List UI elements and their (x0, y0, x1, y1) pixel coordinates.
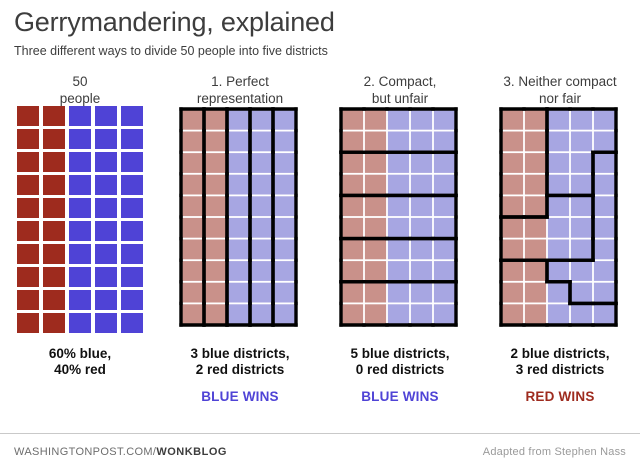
voter-cell (594, 132, 615, 152)
voter-cell (342, 175, 363, 195)
person-cell (121, 198, 143, 218)
voter-cell (228, 304, 249, 324)
voter-cell (434, 304, 455, 324)
voter-cell (548, 153, 569, 173)
voter-cell (365, 218, 386, 238)
voter-cell (228, 261, 249, 281)
voter-cell (411, 132, 432, 152)
person-cell (121, 106, 143, 126)
voter-cell (274, 304, 295, 324)
voter-cell (342, 132, 363, 152)
voter-cell (411, 218, 432, 238)
voter-cell (434, 110, 455, 130)
voter-cell (342, 218, 363, 238)
voter-cell (548, 261, 569, 281)
voter-cell (365, 175, 386, 195)
panel-caption: 2 blue districts, 3 red districts (510, 346, 609, 378)
voter-cell (342, 196, 363, 216)
voter-cell (228, 196, 249, 216)
voter-cell (411, 153, 432, 173)
footer-source[interactable]: WASHINGTONPOST.COM/WONKBLOG (14, 446, 227, 458)
person-cell (95, 198, 117, 218)
voter-cell (205, 196, 226, 216)
voter-cell (274, 153, 295, 173)
voter-cell (388, 240, 409, 260)
voter-cell (205, 261, 226, 281)
voter-cell (594, 110, 615, 130)
voter-cell (388, 283, 409, 303)
voter-cell (502, 283, 523, 303)
person-cell (95, 290, 117, 310)
voter-cell (182, 175, 203, 195)
voter-cell (525, 132, 546, 152)
voter-cell (434, 261, 455, 281)
person-cell (43, 152, 65, 172)
voter-cell (228, 110, 249, 130)
person-cell (69, 175, 91, 195)
voter-cell (525, 153, 546, 173)
voter-cell (388, 304, 409, 324)
voter-cell (228, 153, 249, 173)
voter-cell (525, 218, 546, 238)
voter-cell (228, 240, 249, 260)
voter-cell (205, 218, 226, 238)
person-cell (95, 129, 117, 149)
voter-cell (228, 218, 249, 238)
voter-cell (502, 110, 523, 130)
voter-cell (388, 218, 409, 238)
person-cell (17, 290, 39, 310)
voter-cell (342, 261, 363, 281)
person-cell (17, 221, 39, 241)
person-cell (69, 198, 91, 218)
person-cell (69, 244, 91, 264)
voter-cell (365, 283, 386, 303)
person-cell (17, 313, 39, 333)
person-cell (95, 313, 117, 333)
voter-cell (365, 304, 386, 324)
voter-cell (274, 175, 295, 195)
person-cell (121, 221, 143, 241)
panel-caption: 5 blue districts, 0 red districts (350, 346, 449, 378)
voter-cell (548, 132, 569, 152)
voter-cell (205, 283, 226, 303)
voter-cell (594, 304, 615, 324)
voter-cell (205, 304, 226, 324)
person-cell (121, 290, 143, 310)
panels-row: 50 people 60% blue, 40% red 1. Perfect r… (0, 66, 640, 420)
voter-cell (525, 304, 546, 324)
person-cell (43, 267, 65, 287)
person-cell (43, 313, 65, 333)
voter-cell (205, 240, 226, 260)
person-cell (17, 175, 39, 195)
voter-cell (182, 110, 203, 130)
voter-cell (434, 196, 455, 216)
voter-cell (525, 261, 546, 281)
voter-cell (388, 261, 409, 281)
voter-cell (525, 175, 546, 195)
voter-cell (342, 304, 363, 324)
person-cell (43, 244, 65, 264)
voter-cell (434, 175, 455, 195)
voter-cell (571, 283, 592, 303)
voter-cell (182, 132, 203, 152)
voter-cell (228, 175, 249, 195)
person-cell (43, 290, 65, 310)
voter-cell (548, 110, 569, 130)
voter-cell (571, 196, 592, 216)
voter-cell (411, 240, 432, 260)
person-cell (69, 129, 91, 149)
voter-cell (251, 240, 272, 260)
voter-cell (594, 218, 615, 238)
voter-cell (251, 261, 272, 281)
voter-cell (365, 132, 386, 152)
person-cell (121, 129, 143, 149)
voter-cell (411, 304, 432, 324)
voter-cell (182, 153, 203, 173)
person-cell (69, 106, 91, 126)
voter-cell (594, 153, 615, 173)
voter-cell (182, 196, 203, 216)
voter-cell (525, 110, 546, 130)
person-cell (17, 106, 39, 126)
panel-compact-but-unfair: 2. Compact, but unfair 5 blue districts,… (320, 66, 480, 420)
person-cell (121, 267, 143, 287)
person-cell (121, 175, 143, 195)
voter-cell (228, 132, 249, 152)
person-cell (43, 106, 65, 126)
panel-population: 50 people 60% blue, 40% red (0, 66, 160, 420)
person-cell (95, 106, 117, 126)
person-cell (43, 175, 65, 195)
voter-cell (388, 132, 409, 152)
voter-cell (571, 175, 592, 195)
voter-cell (502, 261, 523, 281)
voter-cell (342, 283, 363, 303)
voter-cell (411, 283, 432, 303)
voter-cell (205, 110, 226, 130)
voter-cell (525, 196, 546, 216)
voter-cell (251, 218, 272, 238)
voter-cell (594, 240, 615, 260)
panel-heading: 1. Perfect representation (197, 66, 283, 106)
voter-cell (434, 218, 455, 238)
person-cell (121, 313, 143, 333)
voter-cell (365, 196, 386, 216)
panel-caption: 60% blue, 40% red (49, 346, 111, 378)
voter-cell (411, 196, 432, 216)
voter-cell (548, 218, 569, 238)
person-cell (69, 152, 91, 172)
voter-cell (182, 283, 203, 303)
voter-cell (594, 175, 615, 195)
voter-cell (182, 261, 203, 281)
person-cell (121, 244, 143, 264)
voter-cell (251, 196, 272, 216)
population-svg (17, 106, 143, 334)
voter-cell (205, 153, 226, 173)
panel-result: BLUE WINS (201, 389, 279, 404)
voter-cell (365, 240, 386, 260)
person-cell (17, 129, 39, 149)
panel-caption: 3 blue districts, 2 red districts (190, 346, 289, 378)
voter-cell (274, 218, 295, 238)
voter-cell (594, 261, 615, 281)
voter-cell (251, 110, 272, 130)
voter-cell (571, 110, 592, 130)
voter-cell (411, 110, 432, 130)
voter-cell (525, 283, 546, 303)
person-cell (17, 198, 39, 218)
voter-cell (502, 218, 523, 238)
panel-heading: 2. Compact, but unfair (364, 66, 437, 106)
person-cell (95, 267, 117, 287)
voter-cell (434, 240, 455, 260)
voter-cell (388, 175, 409, 195)
population-grid (17, 106, 143, 338)
footer-source-prefix: WASHINGTONPOST.COM/ (14, 446, 156, 458)
voter-cell (182, 240, 203, 260)
footer-source-brand: WONKBLOG (156, 446, 227, 458)
voter-cell (251, 132, 272, 152)
person-cell (17, 152, 39, 172)
voter-cell (274, 196, 295, 216)
voter-cell (274, 261, 295, 281)
person-cell (95, 175, 117, 195)
voter-cell (342, 110, 363, 130)
footer: WASHINGTONPOST.COM/WONKBLOG Adapted from… (0, 433, 640, 473)
voter-cell (502, 132, 523, 152)
person-cell (69, 221, 91, 241)
voter-cell (571, 240, 592, 260)
voter-cell (274, 132, 295, 152)
person-cell (69, 290, 91, 310)
voter-cell (205, 132, 226, 152)
person-cell (69, 313, 91, 333)
voter-cell (342, 240, 363, 260)
page-subtitle: Three different ways to divide 50 people… (14, 43, 626, 59)
voter-cell (251, 175, 272, 195)
voter-cell (434, 132, 455, 152)
panel-neither-compact-nor-fair: 3. Neither compact nor fair 2 blue distr… (480, 66, 640, 420)
voter-cell (502, 304, 523, 324)
person-cell (69, 267, 91, 287)
voter-cell (548, 175, 569, 195)
header: Gerrymandering, explained Three differen… (0, 0, 640, 59)
voter-cell (228, 283, 249, 303)
voter-cell (274, 283, 295, 303)
voter-cell (182, 304, 203, 324)
voter-cell (525, 240, 546, 260)
panel-result: RED WINS (525, 389, 594, 404)
voter-cell (274, 110, 295, 130)
person-cell (121, 152, 143, 172)
voter-cell (571, 218, 592, 238)
person-cell (17, 244, 39, 264)
voter-cell (411, 261, 432, 281)
voter-cell (182, 218, 203, 238)
voter-cell (434, 283, 455, 303)
voter-cell (411, 175, 432, 195)
voter-cell (388, 153, 409, 173)
voter-cell (571, 153, 592, 173)
page-title: Gerrymandering, explained (14, 6, 626, 38)
voter-cell (274, 240, 295, 260)
voter-cell (365, 153, 386, 173)
panel-heading: 50 people (60, 66, 101, 106)
voter-cell (365, 110, 386, 130)
districts-svg (178, 106, 302, 334)
voter-cell (365, 261, 386, 281)
voter-cell (594, 283, 615, 303)
person-cell (95, 221, 117, 241)
voter-cell (502, 175, 523, 195)
voter-cell (251, 304, 272, 324)
person-cell (95, 152, 117, 172)
panel-result: BLUE WINS (361, 389, 439, 404)
panel-perfect-representation: 1. Perfect representation 3 blue distric… (160, 66, 320, 420)
panel-heading: 3. Neither compact nor fair (503, 66, 616, 106)
voter-cell (548, 240, 569, 260)
voter-cell (251, 153, 272, 173)
districts-map-irregular (498, 106, 622, 338)
voter-cell (571, 132, 592, 152)
districts-svg (338, 106, 462, 334)
voter-cell (571, 304, 592, 324)
voter-cell (502, 153, 523, 173)
voter-cell (434, 153, 455, 173)
voter-cell (342, 153, 363, 173)
voter-cell (548, 304, 569, 324)
voter-cell (594, 196, 615, 216)
person-cell (43, 129, 65, 149)
voter-cell (548, 196, 569, 216)
person-cell (43, 198, 65, 218)
districts-map-compact (338, 106, 462, 338)
footer-credit: Adapted from Stephen Nass (483, 446, 626, 458)
voter-cell (548, 283, 569, 303)
voter-cell (205, 175, 226, 195)
voter-cell (251, 283, 272, 303)
voter-cell (388, 196, 409, 216)
voter-cell (388, 110, 409, 130)
districts-map-perfect (178, 106, 302, 338)
voter-cell (502, 196, 523, 216)
voter-cell (571, 261, 592, 281)
person-cell (17, 267, 39, 287)
districts-svg (498, 106, 622, 334)
person-cell (43, 221, 65, 241)
person-cell (95, 244, 117, 264)
voter-cell (502, 240, 523, 260)
